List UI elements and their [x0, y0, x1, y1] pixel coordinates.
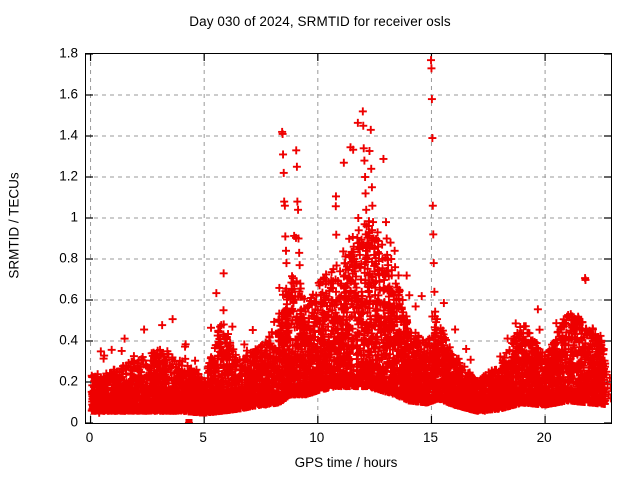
y-tick-label-4: 0.8 — [8, 251, 78, 266]
zero-value-marker — [185, 419, 192, 423]
x-tick-label-1: 5 — [173, 430, 233, 445]
y-tick-label-7: 1.4 — [8, 128, 78, 143]
x-tick-label-4: 20 — [514, 430, 574, 445]
plot-canvas — [86, 54, 611, 423]
x-axis-label: GPS time / hours — [82, 455, 610, 470]
y-tick-label-6: 1.2 — [8, 169, 78, 184]
x-tick-label-3: 15 — [400, 430, 460, 445]
x-tick-label-2: 10 — [287, 430, 347, 445]
y-tick-label-0: 0 — [8, 415, 78, 430]
y-tick-label-2: 0.4 — [8, 333, 78, 348]
y-tick-label-3: 0.6 — [8, 292, 78, 307]
y-axis-tick-labels: 00.20.40.60.811.21.41.61.8 — [0, 0, 78, 480]
chart-title: Day 030 of 2024, SRMTID for receiver osl… — [0, 14, 640, 29]
data-markers — [88, 56, 611, 423]
y-tick-label-1: 0.2 — [8, 374, 78, 389]
y-tick-label-9: 1.8 — [8, 46, 78, 61]
y-tick-label-5: 1 — [8, 210, 78, 225]
y-tick-label-8: 1.6 — [8, 87, 78, 102]
scatter-plot-figure: Day 030 of 2024, SRMTID for receiver osl… — [0, 0, 640, 480]
x-axis-tick-labels: 05101520 — [0, 430, 640, 454]
plot-area — [85, 53, 612, 424]
x-tick-label-0: 0 — [60, 430, 120, 445]
